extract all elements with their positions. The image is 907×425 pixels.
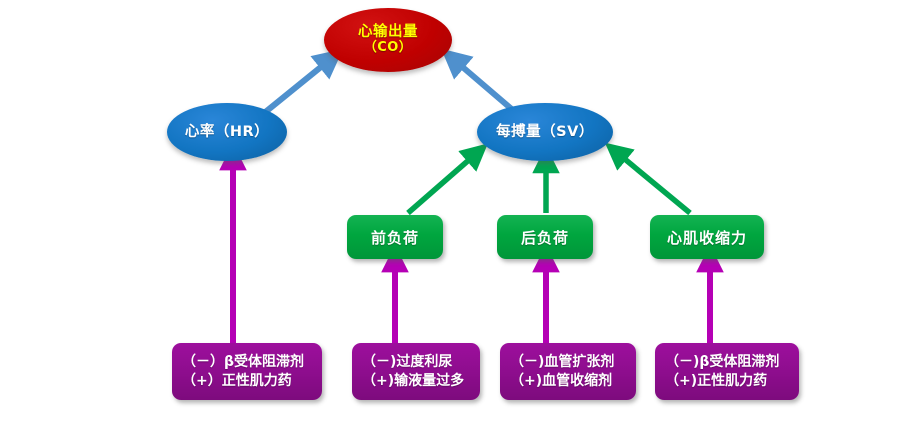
contractility-label: 心肌收缩力 bbox=[667, 227, 747, 248]
afterload-label: 后负荷 bbox=[521, 227, 569, 248]
diagram-canvas: 心输出量 （CO） 心率（HR） 每搏量（SV） 前负荷 后负荷 心肌收缩力 （… bbox=[0, 0, 907, 425]
preload-drug-negative: （－)过度利尿 bbox=[362, 353, 452, 372]
cardiac-output-abbrev: （CO） bbox=[364, 41, 413, 56]
heart-rate-label: 心率（HR） bbox=[185, 124, 269, 141]
contractility-drug-negative: （－)β受体阻滞剂 bbox=[665, 353, 779, 372]
afterload-drug-negative: （－)血管扩张剂 bbox=[510, 353, 614, 372]
arrow-preload-to-sv bbox=[408, 152, 478, 213]
node-afterload-drugs[interactable]: （－)血管扩张剂 （+)血管收缩剂 bbox=[500, 343, 636, 400]
heart-rate-drug-positive: （+）正性肌力药 bbox=[182, 372, 292, 391]
preload-drug-positive: （+)输液量过多 bbox=[362, 372, 464, 391]
node-preload-drugs[interactable]: （－)过度利尿 （+)输液量过多 bbox=[352, 343, 480, 400]
cardiac-output-label: 心输出量 bbox=[358, 24, 418, 41]
node-afterload[interactable]: 后负荷 bbox=[497, 215, 593, 259]
arrow-contractility-to-sv bbox=[615, 151, 690, 213]
node-heart-rate[interactable]: 心率（HR） bbox=[167, 103, 287, 161]
node-heart-rate-drugs[interactable]: （－）β受体阻滞剂 （+）正性肌力药 bbox=[172, 343, 322, 400]
node-cardiac-output[interactable]: 心输出量 （CO） bbox=[324, 8, 452, 72]
node-preload[interactable]: 前负荷 bbox=[347, 215, 443, 259]
heart-rate-drug-negative: （－）β受体阻滞剂 bbox=[182, 353, 304, 372]
arrow-hr-to-co bbox=[258, 58, 332, 118]
node-contractility-drugs[interactable]: （－)β受体阻滞剂 （+)正性肌力药 bbox=[655, 343, 799, 400]
contractility-drug-positive: （+)正性肌力药 bbox=[665, 372, 767, 391]
node-stroke-volume[interactable]: 每搏量（SV） bbox=[477, 103, 613, 161]
stroke-volume-label: 每搏量（SV） bbox=[496, 124, 594, 141]
afterload-drug-positive: （+)血管收缩剂 bbox=[510, 372, 612, 391]
node-contractility[interactable]: 心肌收缩力 bbox=[650, 215, 764, 259]
preload-label: 前负荷 bbox=[371, 227, 419, 248]
